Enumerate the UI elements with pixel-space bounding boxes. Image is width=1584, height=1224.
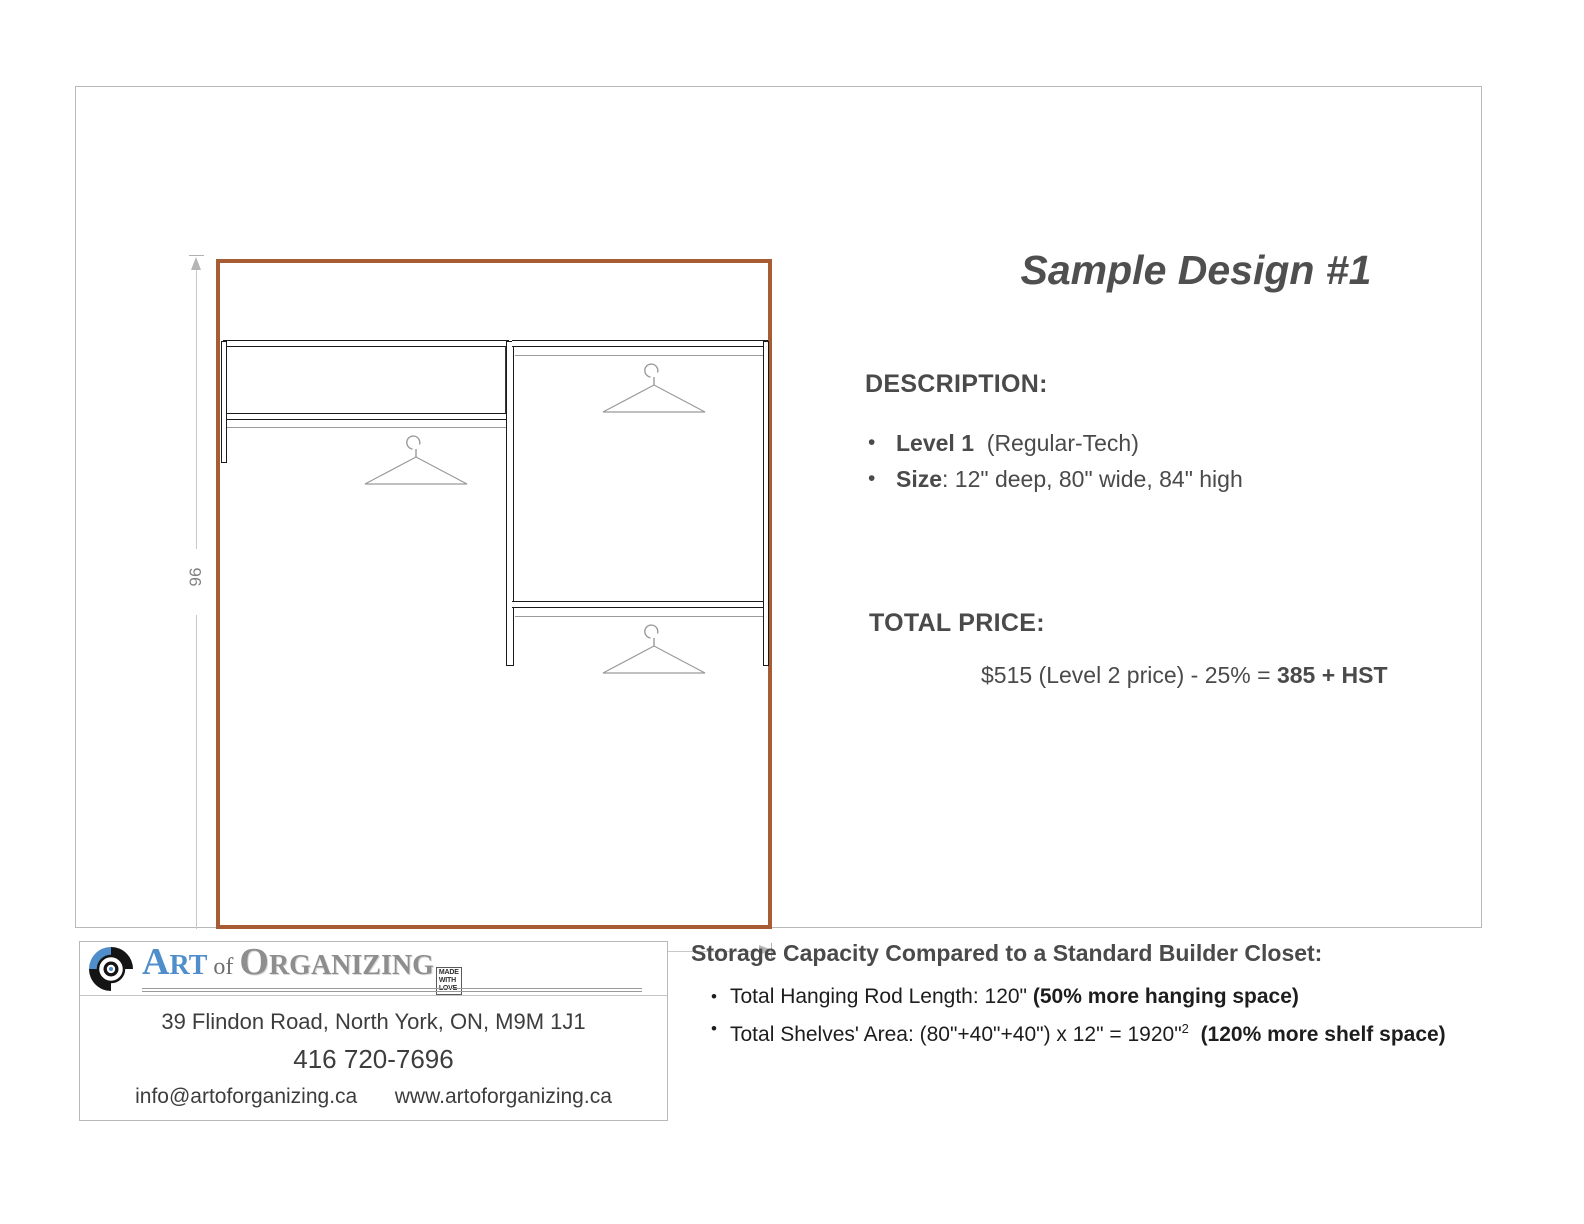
height-dimension-label: 96 [186, 549, 206, 605]
price-heading: TOTAL PRICE: [869, 609, 1045, 638]
closet-elevation-drawing: 96 [171, 237, 811, 997]
left-side-panel [221, 341, 227, 463]
left-top-shelf [223, 340, 509, 347]
contact-address: 39 Flindon Road, North York, ON, M9M 1J1 [80, 1009, 667, 1035]
logo-tag-line-2: WITH [439, 977, 459, 985]
description-item-level: Level 1 (Regular-Tech) [896, 425, 1536, 461]
capacity-heading: Storage Capacity Compared to a Standard … [691, 940, 1322, 967]
target-logo-icon [86, 944, 136, 994]
height-dimension-arrow [191, 257, 201, 270]
right-top-shelf [512, 340, 768, 347]
description-level-label: Level 1 [896, 430, 974, 456]
hanger-icon-left [351, 427, 481, 489]
price-base: $515 (Level 2 price) - 25% = [981, 662, 1277, 688]
contact-email[interactable]: info@artoforganizing.ca [135, 1085, 357, 1108]
right-side-panel [763, 341, 769, 666]
logo-word-art: ART [142, 943, 207, 985]
contact-separator [373, 1085, 379, 1108]
left-middle-shelf [223, 413, 509, 420]
hanger-icon-right-upper [589, 355, 719, 417]
capacity-shelves-text: Total Shelves' Area: (80"+40"+40") x 12"… [730, 1023, 1182, 1046]
description-size-value: : 12" deep, 80" wide, 84" high [942, 466, 1243, 492]
logo-word-of: of [213, 948, 233, 986]
contact-phone[interactable]: 416 720-7696 [80, 1044, 667, 1075]
hanger-icon-right-lower [589, 616, 719, 678]
logo-underline [142, 988, 642, 992]
description-list: Level 1 (Regular-Tech) Size: 12" deep, 8… [865, 425, 1536, 497]
capacity-list: Total Hanging Rod Length: 120" (50% more… [700, 981, 1490, 1051]
contact-website[interactable]: www.artoforganizing.ca [395, 1085, 612, 1108]
capacity-rod-bold: (50% more hanging space) [1033, 985, 1299, 1008]
logo-wordmark: ART of ORGANIZING MADE WITH LOVE [142, 943, 462, 995]
main-content-panel: 96 [75, 86, 1482, 928]
capacity-shelves-superscript: 2 [1182, 1021, 1189, 1036]
design-sheet: 96 [0, 0, 1584, 1224]
center-divider-panel [506, 341, 514, 666]
company-card: ART of ORGANIZING MADE WITH LOVE 39 Flin… [79, 941, 668, 1121]
logo-word-organizing: ORGANIZING [239, 943, 433, 985]
description-level-value: (Regular-Tech) [987, 430, 1139, 456]
price-line: $515 (Level 2 price) - 25% = 385 + HST [981, 662, 1388, 689]
page-title: Sample Design #1 [866, 247, 1526, 294]
description-item-size: Size: 12" deep, 80" wide, 84" high [896, 461, 1536, 497]
capacity-shelves-bold: (120% more shelf space) [1201, 1023, 1446, 1046]
logo-strip: ART of ORGANIZING MADE WITH LOVE [80, 942, 667, 996]
left-shelf-box [226, 344, 506, 416]
capacity-rod-text: Total Hanging Rod Length: 120" [730, 985, 1033, 1008]
capacity-item-shelves: Total Shelves' Area: (80"+40"+40") x 12"… [730, 1013, 1490, 1051]
contact-web-line: info@artoforganizing.ca www.artoforganiz… [80, 1085, 667, 1109]
description-size-label: Size [896, 466, 942, 492]
contact-block: 39 Flindon Road, North York, ON, M9M 1J1… [80, 996, 667, 1109]
height-dimension-tick [189, 255, 204, 256]
price-total: 385 + HST [1277, 662, 1388, 688]
right-middle-shelf [512, 601, 768, 608]
logo-tag-line-1: MADE [439, 969, 459, 977]
description-heading: DESCRIPTION: [865, 370, 1048, 399]
capacity-item-rod: Total Hanging Rod Length: 120" (50% more… [730, 981, 1490, 1013]
